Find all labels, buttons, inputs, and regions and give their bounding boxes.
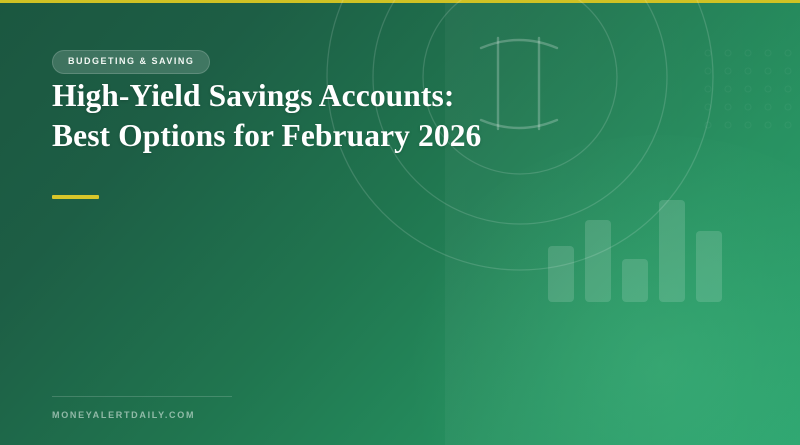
banner-root: BUDGETING & SAVING High-Yield Savings Ac… xyxy=(0,0,800,445)
page-title: High-Yield Savings Accounts: Best Option… xyxy=(52,76,482,155)
chart-bar xyxy=(696,231,722,302)
dot-grid-decoration xyxy=(700,45,800,130)
site-name: MONEYALERTDAILY.COM xyxy=(52,411,195,420)
gold-accent-bar xyxy=(52,195,99,199)
chart-bar xyxy=(659,200,685,302)
chart-bar xyxy=(548,246,574,302)
chart-bar xyxy=(585,220,611,302)
right-panel-overlay xyxy=(445,0,800,445)
bar-chart-decoration xyxy=(548,200,726,302)
chart-bar xyxy=(622,259,648,302)
footer-divider xyxy=(52,396,232,397)
content-column: BUDGETING & SAVING High-Yield Savings Ac… xyxy=(52,0,482,445)
dollar-sign-glyph xyxy=(481,38,557,129)
category-badge[interactable]: BUDGETING & SAVING xyxy=(52,50,210,74)
